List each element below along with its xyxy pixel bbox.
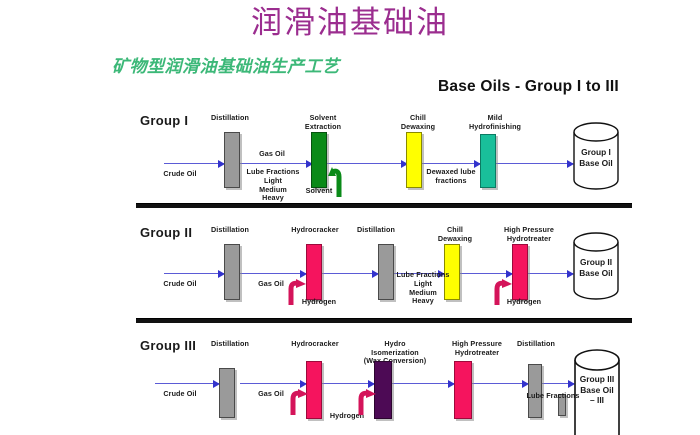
arrow-isomerization-to-hydrotreater-g3 bbox=[392, 383, 454, 384]
hook-arrow-hydrogen-g2a bbox=[286, 273, 310, 305]
tank-group1-base-oil[interactable]: Group I Base Oil bbox=[572, 122, 620, 190]
group-label-3: Group III bbox=[140, 338, 196, 353]
hook-arrow-hydrogen-g2b bbox=[492, 273, 516, 305]
process-box-distillation-g3a[interactable] bbox=[219, 368, 235, 418]
flow-label-lube-fractions-g1: Lube Fractions Light Medium Heavy bbox=[240, 168, 306, 203]
group-label-1: Group I bbox=[140, 113, 188, 128]
flow-label-dewaxed-lube-fractions-g1: Dewaxed lube fractions bbox=[420, 168, 482, 186]
arrow-chill-to-mild-g1 bbox=[422, 163, 480, 164]
page-title: 润滑油基础油 bbox=[0, 4, 700, 42]
tank-label-g2: Group II Base Oil bbox=[572, 257, 620, 278]
hook-arrow-hydrogen-g3b bbox=[356, 383, 380, 415]
group-label-2: Group II bbox=[140, 225, 192, 240]
divider-group1-group2 bbox=[136, 203, 632, 208]
box-caption-distillation-g3a: Distillation bbox=[194, 340, 266, 349]
arrow-hydrotreater-to-tank-g2 bbox=[528, 273, 573, 274]
flow-label-gas-oil-g1: Gas Oil bbox=[243, 150, 301, 159]
box-caption-hydrocracker-g3: Hydrocracker bbox=[275, 340, 355, 349]
tank-group2-base-oil[interactable]: Group II Base Oil bbox=[572, 232, 620, 300]
process-box-high-pressure-hydrotreater-g3[interactable] bbox=[454, 361, 472, 419]
slide-canvas: 润滑油基础油 矿物型润滑油基础油生产工艺 Base Oils - Group I… bbox=[0, 0, 700, 435]
tank-label-g1: Group I Base Oil bbox=[572, 147, 620, 168]
box-caption-distillation-g2b: Distillation bbox=[340, 226, 412, 235]
process-box-distillation-g2a[interactable] bbox=[224, 244, 240, 300]
page-subtitle: 矿物型润滑油基础油生产工艺 bbox=[112, 52, 340, 77]
process-box-distillation-g1[interactable] bbox=[224, 132, 240, 188]
box-caption-distillation-g1: Distillation bbox=[194, 114, 266, 123]
arrow-distillation-to-tank-g3 bbox=[542, 383, 574, 384]
arrow-hydrocracker-to-distillation-g2 bbox=[322, 273, 378, 274]
arrow-crude-to-distillation-g2 bbox=[164, 273, 224, 274]
flow-label-crude-oil-g1: Crude Oil bbox=[151, 170, 209, 179]
arrow-mild-to-tank-g1 bbox=[495, 163, 573, 164]
process-box-solvent-extraction-g1[interactable] bbox=[311, 132, 327, 188]
box-caption-high-pressure-hydrotreater-g2: High Pressure Hydrotreater bbox=[484, 226, 574, 243]
arrow-crude-to-distillation-g3 bbox=[155, 383, 219, 384]
process-box-mild-hydrofinishing-g1[interactable] bbox=[480, 134, 496, 188]
divider-group2-group3 bbox=[136, 318, 632, 323]
hook-arrow-hydrogen-g3a bbox=[288, 383, 312, 415]
tank-group3-base-oil[interactable]: Group III Base Oil – III bbox=[572, 348, 622, 435]
tank-label-g3: Group III Base Oil – III bbox=[572, 374, 622, 406]
flow-label-crude-oil-g3: Crude Oil bbox=[151, 390, 209, 399]
box-caption-chill-dewaxing-g1: Chill Dewaxing bbox=[382, 114, 454, 131]
flow-label-lube-fractions-g2: Lube Fractions Light Medium Heavy bbox=[390, 271, 456, 306]
hook-arrow-solvent-g1 bbox=[327, 163, 351, 197]
box-caption-solvent-extraction-g1: Solvent Extraction bbox=[287, 114, 359, 131]
flow-label-crude-oil-g2: Crude Oil bbox=[151, 280, 209, 289]
section-heading: Base Oils - Group I to III bbox=[438, 78, 619, 96]
box-caption-chill-dewaxing-g2: Chill Dewaxing bbox=[419, 226, 491, 243]
arrow-hydrotreater-to-distillation-g3 bbox=[472, 383, 528, 384]
arrow-crude-to-distillation-g1 bbox=[164, 163, 224, 164]
box-caption-hydro-isomerization-g3: Hydro Isomerization (Wax Conversion) bbox=[352, 340, 438, 366]
arrow-distillation-to-solvent-g1 bbox=[240, 163, 312, 164]
box-caption-mild-hydrofinishing-g1: Mild Hydrofinishing bbox=[452, 114, 538, 131]
box-caption-distillation-g3b: Distillation bbox=[500, 340, 572, 349]
box-caption-distillation-g2a: Distillation bbox=[194, 226, 266, 235]
